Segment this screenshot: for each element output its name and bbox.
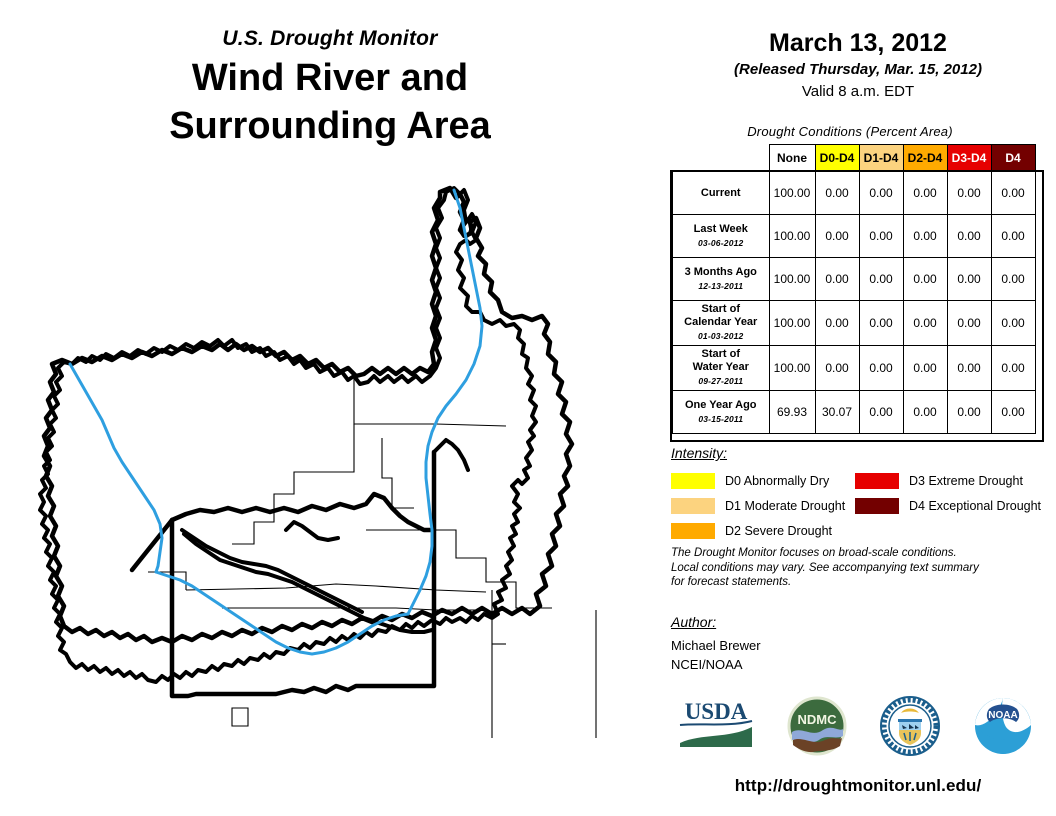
date-block: March 13, 2012 (Released Thursday, Mar. … — [660, 28, 1056, 102]
cell-none: 69.93 — [769, 391, 815, 434]
swatch-d2 — [671, 523, 715, 539]
cell-none: 100.00 — [769, 346, 815, 391]
intensity-heading: Intensity: — [671, 445, 727, 461]
svg-text:NOAA: NOAA — [989, 710, 1018, 721]
cell-d1d4: 0.00 — [859, 391, 903, 434]
legend-column-right: D3 Extreme Drought D4 Exceptional Drough… — [855, 468, 1041, 518]
cell-d0d4: 0.00 — [815, 215, 859, 258]
swatch-d3 — [855, 473, 899, 489]
noaa-commerce-seal[interactable] — [879, 695, 941, 762]
table-header: None D0-D4 D1-D4 D2-D4 D3-D4 D4 — [673, 145, 1036, 172]
row-label-start-of-calendar-year: Start of Calendar Year 01-03-2012 — [673, 301, 770, 346]
cell-d2d4: 0.00 — [903, 301, 947, 346]
cell-d1d4: 0.00 — [859, 215, 903, 258]
legend-item-d3: D3 Extreme Drought — [855, 468, 1041, 493]
release-date: (Released Thursday, Mar. 15, 2012) — [660, 59, 1056, 80]
cell-d0d4: 30.07 — [815, 391, 859, 434]
legend-label-d4: D4 Exceptional Drought — [909, 499, 1041, 513]
table-row: Current 100.00 0.00 0.00 0.00 0.00 0.00 — [673, 172, 1036, 215]
legend-item-d0: D0 Abnormally Dry — [671, 468, 845, 493]
row-label-3-months-ago: 3 Months Ago 12-13-2011 — [673, 258, 770, 301]
legend-label-d2: D2 Severe Drought — [725, 524, 832, 538]
cell-d4: 0.00 — [991, 215, 1035, 258]
col-header-none: None — [769, 145, 815, 172]
author-heading: Author: — [671, 614, 716, 630]
row-date: 03-06-2012 — [676, 237, 766, 250]
legend-column-left: D0 Abnormally Dry D1 Moderate Drought D2… — [671, 468, 845, 543]
svg-text:NDMC: NDMC — [798, 712, 838, 727]
map-title-block: U.S. Drought Monitor Wind River and Surr… — [0, 26, 660, 150]
table-row: Last Week 03-06-2012 100.00 0.00 0.00 0.… — [673, 215, 1036, 258]
row-label-current: Current — [673, 172, 770, 215]
cell-d2d4: 0.00 — [903, 215, 947, 258]
cell-d1d4: 0.00 — [859, 346, 903, 391]
row-date: 01-03-2012 — [676, 330, 766, 343]
col-header-d3-d4: D3-D4 — [947, 145, 991, 172]
table-row: 3 Months Ago 12-13-2011 100.00 0.00 0.00… — [673, 258, 1036, 301]
legend-item-d1: D1 Moderate Drought — [671, 493, 845, 518]
cell-d4: 0.00 — [991, 172, 1035, 215]
swatch-d1 — [671, 498, 715, 514]
col-header-d4: D4 — [991, 145, 1035, 172]
col-header-d2-d4: D2-D4 — [903, 145, 947, 172]
table-body: Current 100.00 0.00 0.00 0.00 0.00 0.00 … — [673, 172, 1036, 434]
usda-logo[interactable]: USDA — [676, 697, 756, 760]
cell-none: 100.00 — [769, 172, 815, 215]
cell-d3d4: 0.00 — [947, 391, 991, 434]
row-name: 3 Months Ago — [676, 266, 766, 279]
row-name: Start of Water Year — [676, 348, 766, 374]
region-title: Wind River and Surrounding Area — [0, 54, 660, 150]
cell-d0d4: 0.00 — [815, 301, 859, 346]
row-label-start-of-water-year: Start of Water Year 09-27-2011 — [673, 346, 770, 391]
table-corner-cell — [673, 145, 770, 172]
table-caption: Drought Conditions (Percent Area) — [660, 124, 1040, 139]
table-row: Start of Calendar Year 01-03-2012 100.00… — [673, 301, 1036, 346]
cell-d3d4: 0.00 — [947, 215, 991, 258]
swatch-d4 — [855, 498, 899, 514]
valid-time: Valid 8 a.m. EDT — [660, 81, 1056, 102]
cell-d0d4: 0.00 — [815, 172, 859, 215]
cell-d0d4: 0.00 — [815, 258, 859, 301]
cell-d1d4: 0.00 — [859, 258, 903, 301]
cell-none: 100.00 — [769, 258, 815, 301]
table-row: Start of Water Year 09-27-2011 100.00 0.… — [673, 346, 1036, 391]
cell-none: 100.00 — [769, 215, 815, 258]
legend-label-d3: D3 Extreme Drought — [909, 474, 1023, 488]
map-svg[interactable] — [36, 178, 660, 762]
cell-d4: 0.00 — [991, 301, 1035, 346]
cell-d4: 0.00 — [991, 346, 1035, 391]
cell-d2d4: 0.00 — [903, 258, 947, 301]
legend-label-d0: D0 Abnormally Dry — [725, 474, 829, 488]
cell-d3d4: 0.00 — [947, 172, 991, 215]
cell-d2d4: 0.00 — [903, 346, 947, 391]
cell-d3d4: 0.00 — [947, 346, 991, 391]
drought-map[interactable] — [36, 178, 660, 762]
row-name: One Year Ago — [676, 399, 766, 412]
site-url[interactable]: http://droughtmonitor.unl.edu/ — [660, 776, 1056, 796]
svg-text:USDA: USDA — [684, 699, 747, 724]
cell-none: 100.00 — [769, 301, 815, 346]
table-row: One Year Ago 03-15-2011 69.93 30.07 0.00… — [673, 391, 1036, 434]
cell-d1d4: 0.00 — [859, 172, 903, 215]
disclaimer-text: The Drought Monitor focuses on broad-sca… — [671, 546, 1021, 590]
row-date: 03-15-2011 — [676, 413, 766, 426]
row-date: 12-13-2011 — [676, 280, 766, 293]
county-line-south-notch — [232, 708, 248, 726]
noaa-logo[interactable]: NOAA — [972, 695, 1034, 762]
table-header-row: None D0-D4 D1-D4 D2-D4 D3-D4 D4 — [673, 145, 1036, 172]
row-label-last-week: Last Week 03-06-2012 — [673, 215, 770, 258]
row-name: Current — [676, 187, 766, 200]
drought-conditions-table: None D0-D4 D1-D4 D2-D4 D3-D4 D4 Current … — [672, 144, 1036, 434]
row-name: Last Week — [676, 223, 766, 236]
cell-d0d4: 0.00 — [815, 346, 859, 391]
cell-d2d4: 0.00 — [903, 391, 947, 434]
cell-d4: 0.00 — [991, 391, 1035, 434]
row-name: Start of Calendar Year — [676, 303, 766, 329]
ndmc-logo[interactable]: NDMC — [787, 696, 847, 761]
cell-d4: 0.00 — [991, 258, 1035, 301]
row-date: 09-27-2011 — [676, 375, 766, 388]
legend-label-d1: D1 Moderate Drought — [725, 499, 845, 513]
col-header-d0-d4: D0-D4 — [815, 145, 859, 172]
logo-row: USDA NDMC — [660, 688, 1050, 768]
author-names: Michael Brewer NCEI/NOAA — [671, 636, 761, 674]
row-label-one-year-ago: One Year Ago 03-15-2011 — [673, 391, 770, 434]
cell-d2d4: 0.00 — [903, 172, 947, 215]
legend-item-d4: D4 Exceptional Drought — [855, 493, 1041, 518]
issue-date: March 13, 2012 — [660, 28, 1056, 58]
program-title: U.S. Drought Monitor — [0, 26, 660, 52]
swatch-d0 — [671, 473, 715, 489]
cell-d3d4: 0.00 — [947, 301, 991, 346]
cell-d3d4: 0.00 — [947, 258, 991, 301]
cell-d1d4: 0.00 — [859, 301, 903, 346]
legend-item-d2: D2 Severe Drought — [671, 518, 845, 543]
col-header-d1-d4: D1-D4 — [859, 145, 903, 172]
